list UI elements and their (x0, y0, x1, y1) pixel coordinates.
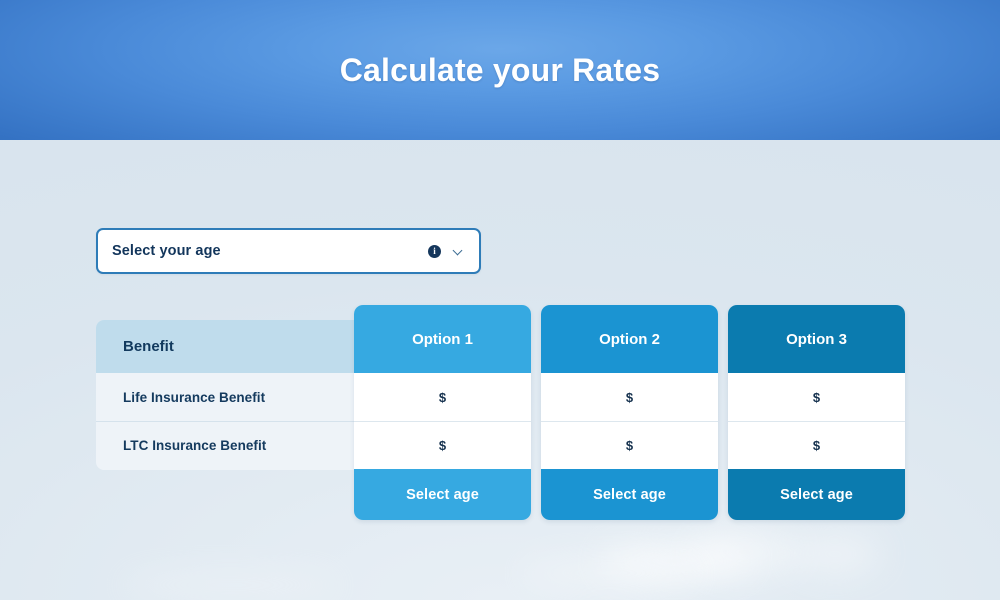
option-card-1: Option 1 $ $ Select age (354, 305, 531, 520)
cloud-decoration (600, 540, 750, 582)
rate-comparison-table: Benefit Life Insurance Benefit LTC Insur… (96, 305, 906, 520)
select-age-button[interactable]: Select age (541, 469, 718, 520)
benefit-column-header: Benefit (96, 320, 364, 373)
option-card-header: Option 2 (541, 305, 718, 373)
option-value-cell: $ (541, 373, 718, 421)
table-row: LTC Insurance Benefit (96, 421, 364, 469)
option-card-header: Option 3 (728, 305, 905, 373)
table-row: Life Insurance Benefit (96, 373, 364, 421)
option-value-cell: $ (354, 421, 531, 469)
page-title: Calculate your Rates (340, 54, 661, 86)
age-select-dropdown[interactable]: Select your age i (96, 228, 481, 274)
page-background: Calculate your Rates Select your age i B… (0, 0, 1000, 600)
benefit-column-header-label: Benefit (123, 338, 174, 355)
benefit-panel: Benefit Life Insurance Benefit LTC Insur… (96, 320, 364, 470)
cloud-decoration (690, 528, 800, 576)
chevron-down-icon[interactable] (454, 247, 463, 256)
select-age-button[interactable]: Select age (728, 469, 905, 520)
benefit-row-label: LTC Insurance Benefit (123, 438, 266, 453)
info-icon[interactable]: i (428, 245, 441, 258)
option-value-cell: $ (354, 373, 531, 421)
option-card-header: Option 1 (354, 305, 531, 373)
age-select-label: Select your age (112, 243, 428, 259)
option-card-3: Option 3 $ $ Select age (728, 305, 905, 520)
select-age-button[interactable]: Select age (354, 469, 531, 520)
cloud-decoration (790, 534, 880, 574)
page-header-banner: Calculate your Rates (0, 0, 1000, 140)
option-card-2: Option 2 $ $ Select age (541, 305, 718, 520)
benefit-row-label: Life Insurance Benefit (123, 390, 265, 405)
option-value-cell: $ (541, 421, 718, 469)
cloud-decoration (120, 570, 340, 600)
option-value-cell: $ (728, 421, 905, 469)
cloud-decoration (520, 556, 700, 590)
option-value-cell: $ (728, 373, 905, 421)
